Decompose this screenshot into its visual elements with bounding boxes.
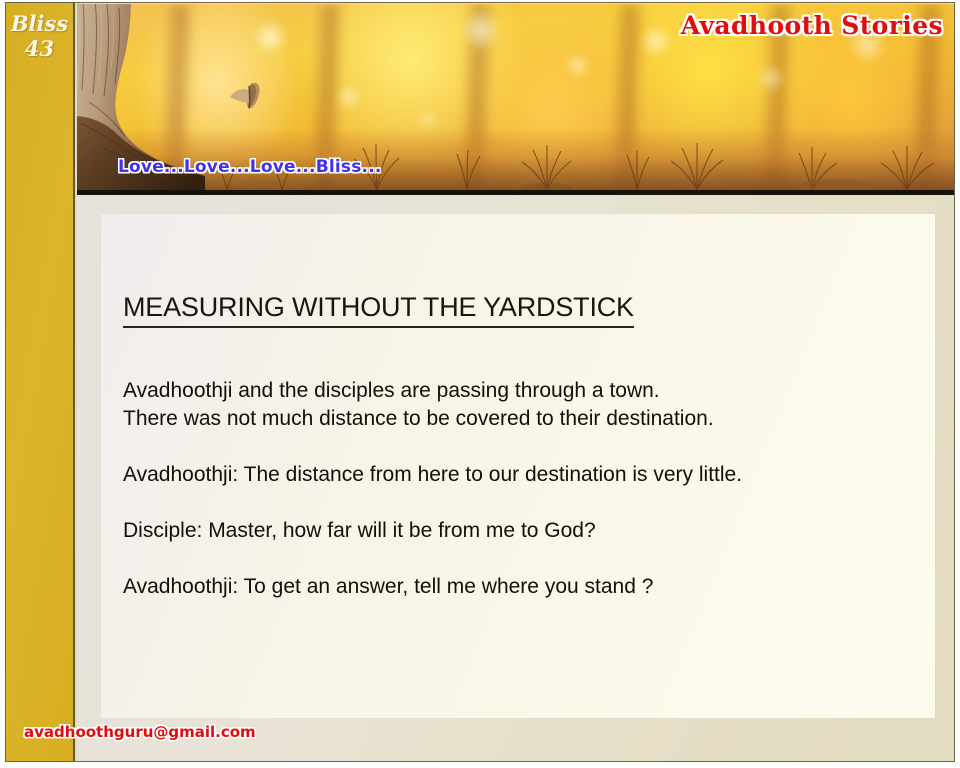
- story-paragraph: Avadhoothji and the disciples are passin…: [123, 377, 921, 433]
- banner-caption-text: Love...Love...Love...Bliss...: [118, 157, 382, 177]
- sidebar-slide-number: 43: [6, 36, 73, 61]
- banner-image: Love...Love...Love...Bliss... Avadhooth …: [77, 4, 955, 195]
- sidebar-series-label: Bliss: [6, 11, 73, 36]
- content-panel: MEASURING WITHOUT THE YARDSTICK Avadhoot…: [101, 214, 935, 718]
- story-paragraph: Avadhoothji: The distance from here to o…: [123, 461, 921, 489]
- story-paragraph: Disciple: Master, how far will it be fro…: [123, 517, 921, 545]
- presentation-slide: Bliss 43: [5, 2, 955, 762]
- page-title: MEASURING WITHOUT THE YARDSTICK: [123, 292, 634, 328]
- sidebar-gold-band: Bliss 43: [6, 3, 75, 762]
- slide-body-area: MEASURING WITHOUT THE YARDSTICK Avadhoot…: [77, 195, 955, 762]
- footer-email-text: avadhoothguru@gmail.com: [24, 723, 256, 741]
- story-text-block: Avadhoothji and the disciples are passin…: [123, 377, 921, 601]
- butterfly-icon: [227, 76, 269, 116]
- story-paragraph: Avadhoothji: To get an answer, tell me w…: [123, 573, 921, 601]
- banner-title-text: Avadhooth Stories: [681, 11, 943, 40]
